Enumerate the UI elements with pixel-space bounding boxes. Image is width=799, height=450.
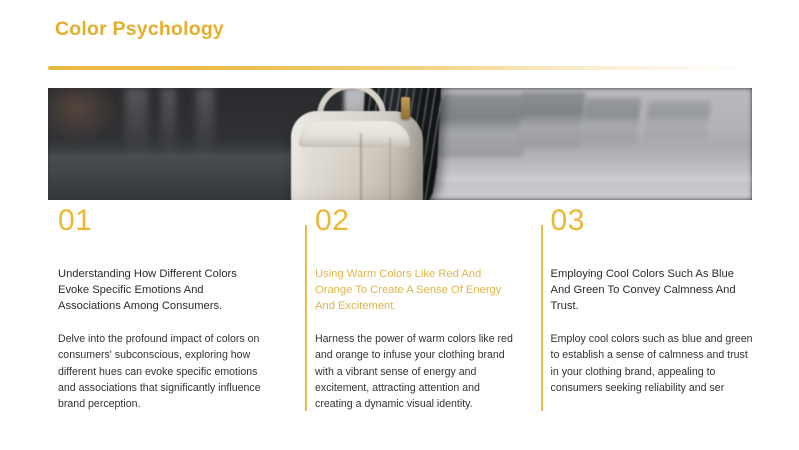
banner-image [48, 88, 752, 200]
background-pillar [125, 88, 148, 157]
banner-scene [48, 88, 752, 200]
background-step [644, 101, 711, 138]
column-body-02: Harness the power of warm colors like re… [315, 331, 518, 413]
column-body-03: Employ cool colors such as blue and gree… [551, 331, 754, 397]
column-divider-rule [541, 225, 543, 411]
handbag-seam [389, 137, 391, 200]
column-number-03: 03 [551, 206, 755, 236]
column-divider-rule [305, 225, 307, 411]
column-heading-01: Understanding How Different Colors Evoke… [58, 266, 263, 315]
slide-canvas: Color Psychology [0, 0, 799, 450]
handbag-body [291, 111, 423, 200]
background-pillar [161, 88, 176, 157]
title-divider-rule [48, 66, 754, 70]
column-03: 03 Employing Cool Colors Such As Blue An… [519, 206, 755, 413]
handbag-seam [360, 133, 362, 200]
column-number-02: 02 [315, 206, 519, 236]
title-block: Color Psychology [55, 18, 755, 41]
columns-container: 01 Understanding How Different Colors Ev… [48, 206, 754, 413]
column-heading-02: Using Warm Colors Like Red And Orange To… [315, 266, 519, 315]
column-body-01: Delve into the profound impact of colors… [58, 331, 261, 413]
column-02: 02 Using Warm Colors Like Red And Orange… [283, 206, 519, 413]
handbag-top-panel [299, 121, 410, 147]
column-heading-03: Employing Cool Colors Such As Blue And G… [551, 266, 755, 315]
handbag [291, 90, 423, 200]
background-step [581, 98, 642, 143]
column-01: 01 Understanding How Different Colors Ev… [48, 206, 283, 413]
background-step [517, 92, 586, 148]
background-pillar [196, 88, 214, 157]
page-title: Color Psychology [55, 18, 755, 41]
handbag-clasp-icon [401, 97, 410, 119]
column-number-01: 01 [58, 206, 283, 236]
